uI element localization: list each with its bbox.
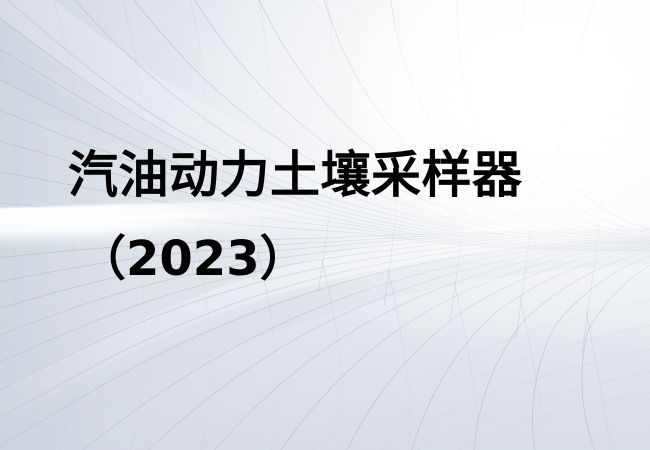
background-mesh-pattern — [0, 0, 650, 450]
title-slide: 汽油动力土壤采样器 （2023） — [0, 0, 650, 450]
